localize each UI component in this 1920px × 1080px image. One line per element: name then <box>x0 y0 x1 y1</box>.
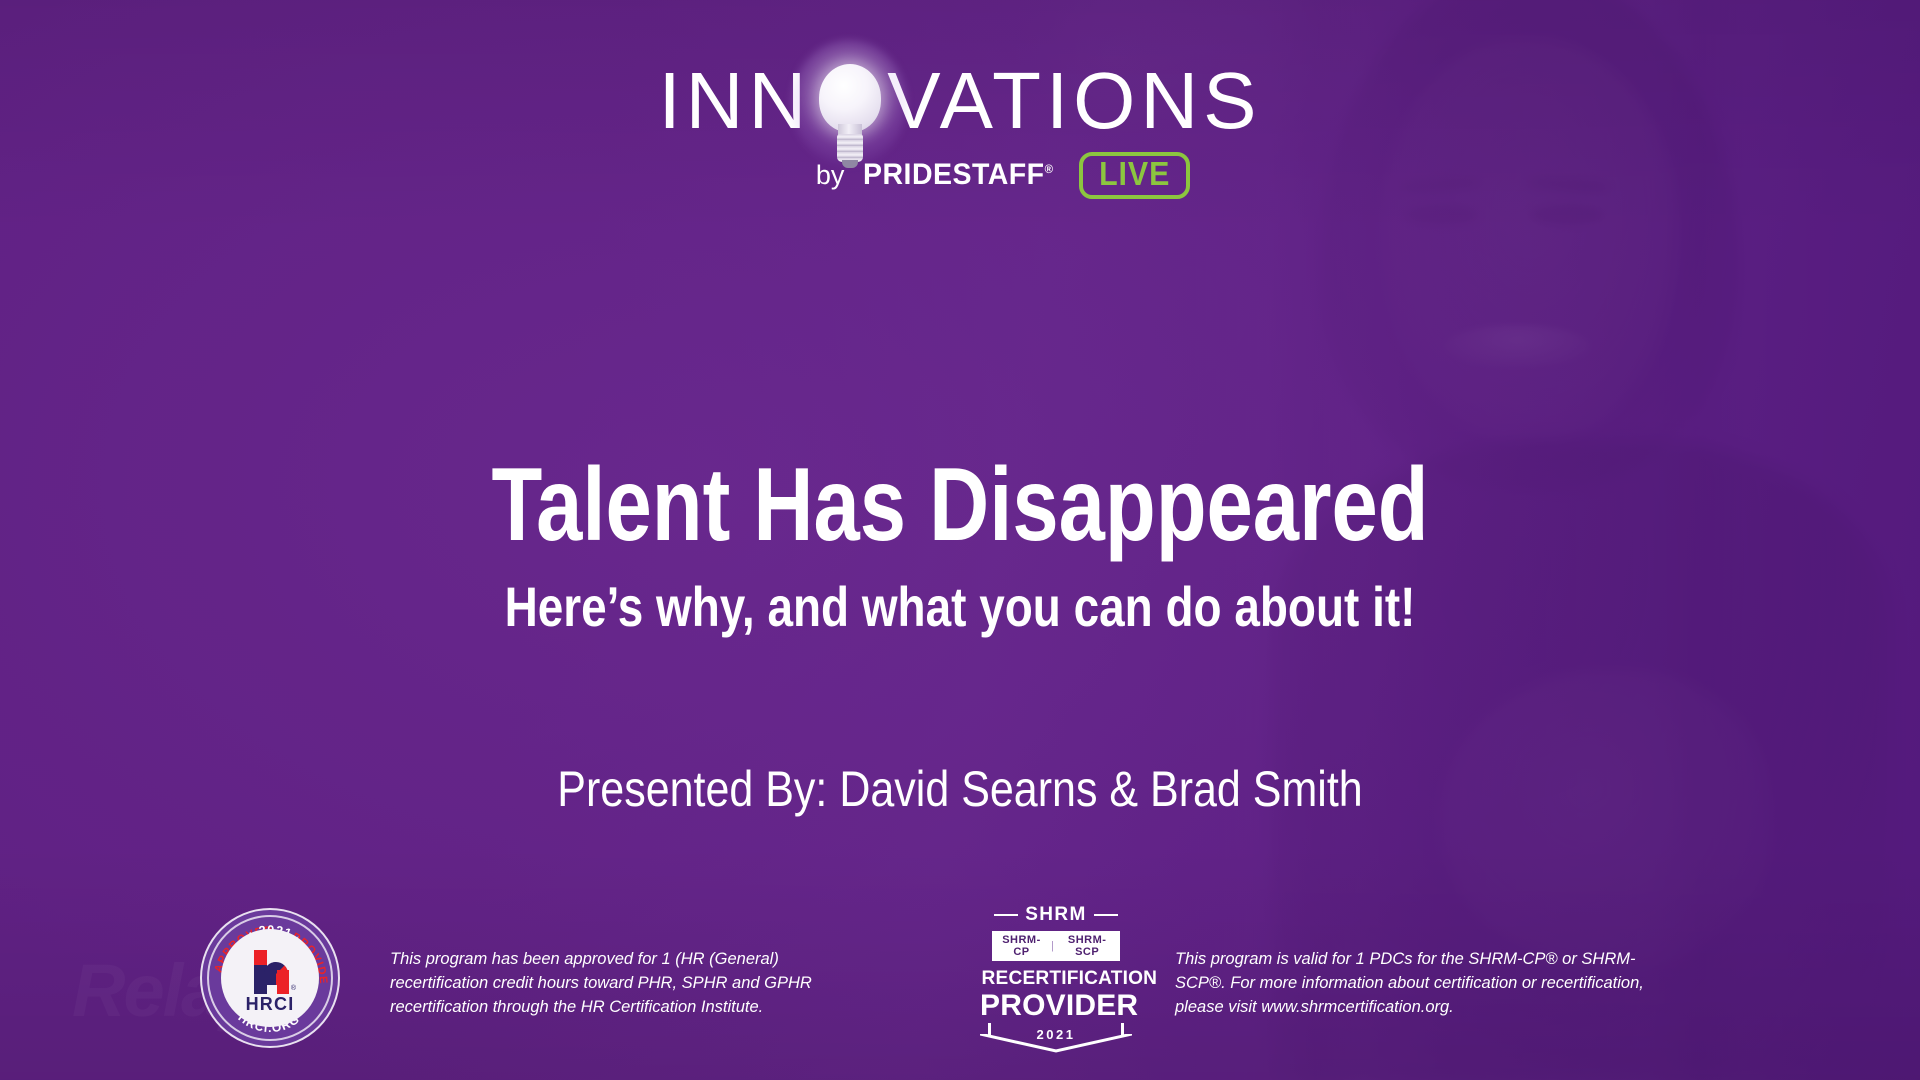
shrm-org-row: SHRM <box>980 904 1132 926</box>
shrm-cert-divider: | <box>1051 940 1054 952</box>
shrm-rule-left <box>994 914 1018 916</box>
shrm-cert-pill: SHRM-CP | SHRM-SCP <box>992 931 1120 961</box>
shrm-org-label: SHRM <box>1025 904 1087 926</box>
hrci-h-red-cap <box>254 950 267 965</box>
registered-trademark-icon: ® <box>1045 162 1054 176</box>
slide-title: Talent Has Disappeared <box>192 452 1728 558</box>
logo-byline-row: by PRIDESTAFF® LIVE <box>730 152 1190 199</box>
innovations-logo-lockup: INN VATIONS by PRIDESTAFF® LIVE <box>0 62 1920 199</box>
shrm-cert-scp-label: SHRM-SCP <box>1060 934 1114 958</box>
headline-block: Talent Has Disappeared Here’s why, and w… <box>0 452 1920 637</box>
hrci-seal-icon: APPROVED · 2021 · PROVIDER HRCI.ORG <box>200 908 340 1048</box>
lightbulb-icon <box>811 62 887 140</box>
presenter-line: Presented By: David Searns & Brad Smith <box>134 760 1785 818</box>
pridestaff-brandmark: PRIDESTAFF® <box>863 158 1053 192</box>
hrci-name-label: HRCI <box>246 995 295 1013</box>
live-badge: LIVE <box>1079 152 1190 199</box>
shrm-year-label: 2021 <box>1037 1027 1076 1042</box>
hrci-disclaimer-text: This program has been approved for 1 (HR… <box>390 948 850 1020</box>
presentation-slide: Relay INN VATIONS by PRIDESTAFF® LIVE Ta… <box>0 0 1920 1080</box>
shrm-cert-cp-label: SHRM-CP <box>998 934 1045 958</box>
innovations-wordmark: INN VATIONS <box>658 62 1261 140</box>
live-badge-label: LIVE <box>1099 157 1170 192</box>
hrci-registered-icon: ® <box>291 985 296 992</box>
slide-subtitle: Here’s why, and what you can do about it… <box>173 578 1747 637</box>
shrm-provider-label: PROVIDER <box>980 991 1132 1021</box>
shrm-recertification-provider-badge: SHRM SHRM-CP | SHRM-SCP RECERTIFICATION … <box>980 900 1132 1052</box>
hrci-h-monogram-icon: ® <box>244 944 296 994</box>
shrm-disclaimer-text: This program is valid for 1 PDCs for the… <box>1175 948 1645 1020</box>
shrm-year-row: 2021 <box>980 1023 1132 1053</box>
credentials-footer: APPROVED · 2021 · PROVIDER HRCI.ORG <box>0 908 1920 1058</box>
shrm-recertification-label: RECERTIFICATION <box>982 967 1131 990</box>
wordmark-part-two: VATIONS <box>887 61 1261 141</box>
lightbulb-screw-base <box>837 134 863 162</box>
shrm-rule-right <box>1094 914 1118 916</box>
wordmark-part-one: INN <box>658 61 811 141</box>
pridestaff-label: PRIDESTAFF <box>863 158 1045 191</box>
hrci-h-leg <box>277 970 289 994</box>
lightbulb-globe <box>819 64 881 132</box>
hrci-seal-center: ® HRCI <box>221 929 319 1027</box>
